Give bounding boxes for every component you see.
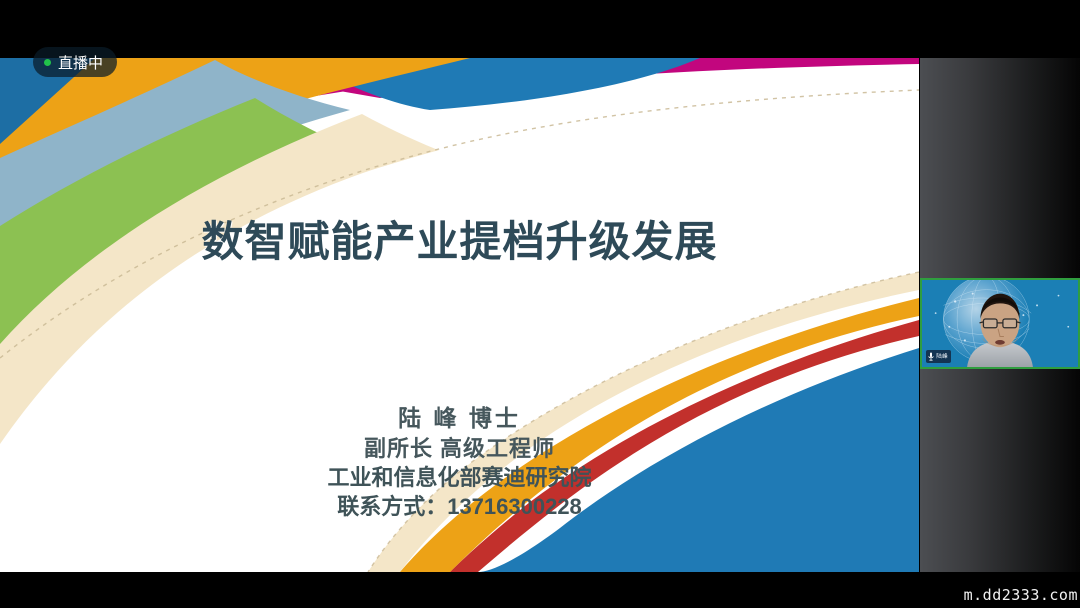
participant-name: 陆峰 [936, 354, 947, 360]
presentation-slide[interactable]: 数智赋能产业提档升级发展 陆 峰 博士 副所长 高级工程师 工业和信息化部赛迪研… [0, 58, 919, 572]
site-watermark: m.dd2333.com [964, 586, 1078, 604]
speaker-organization: 工业和信息化部赛迪研究院 [0, 463, 919, 492]
webcam-tile[interactable]: 陆峰 [920, 278, 1080, 369]
microphone-icon [928, 348, 934, 366]
speaker-contact: 联系方式：13716300228 [0, 492, 919, 521]
speaker-name: 陆 峰 博士 [0, 403, 919, 434]
live-badge-label: 直播中 [58, 52, 103, 73]
live-stream-player: 数智赋能产业提档升级发展 陆 峰 博士 副所长 高级工程师 工业和信息化部赛迪研… [0, 0, 1080, 608]
live-status-badge: 直播中 [33, 47, 117, 77]
slide-title: 数智赋能产业提档升级发展 [0, 208, 919, 269]
speaker-position: 副所长 高级工程师 [0, 434, 919, 463]
participant-name-badge: 陆峰 [926, 350, 951, 363]
speaker-info-block: 陆 峰 博士 副所长 高级工程师 工业和信息化部赛迪研究院 联系方式：13716… [0, 403, 919, 521]
live-dot-icon [44, 59, 51, 66]
